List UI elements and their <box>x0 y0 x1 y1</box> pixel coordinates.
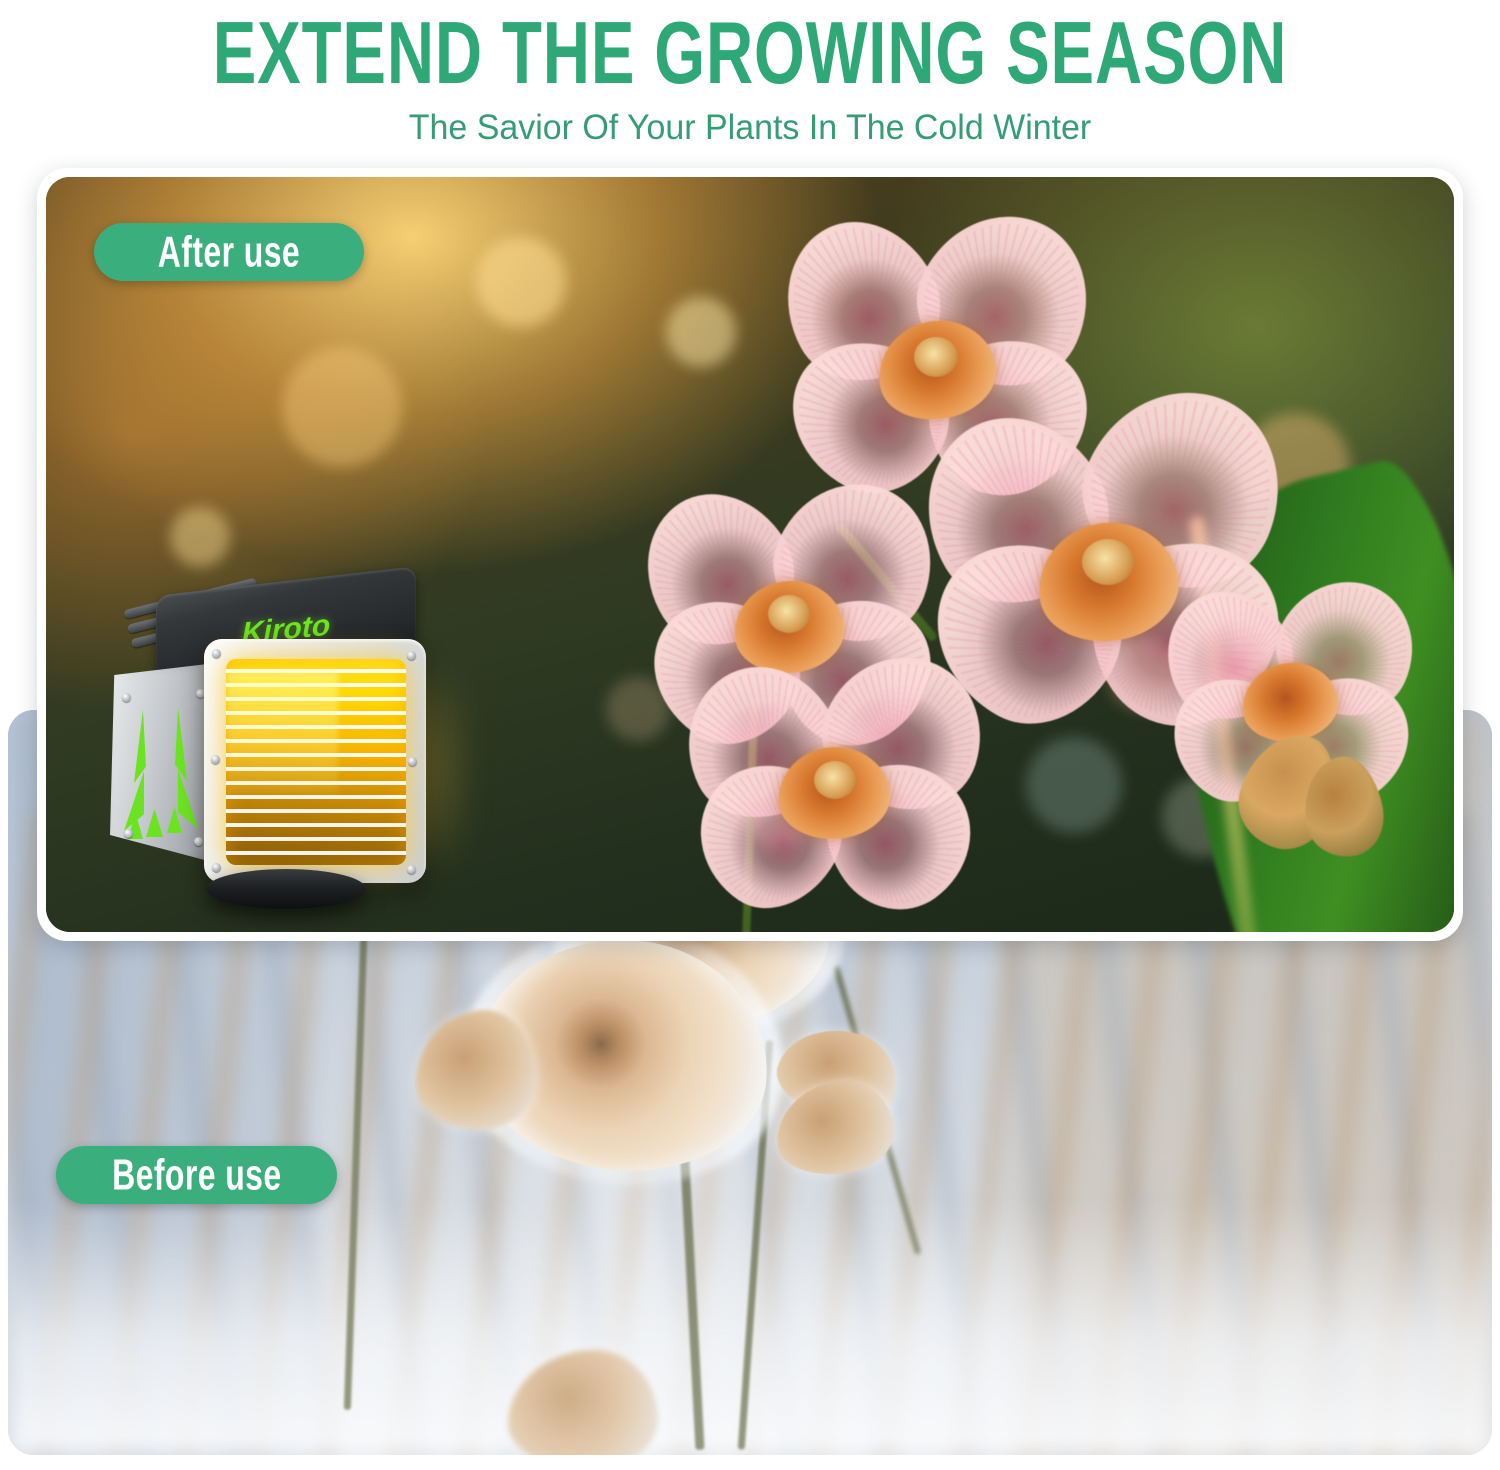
after-use-badge-label: After use <box>158 227 300 277</box>
bokeh-dot <box>170 507 230 567</box>
leaf-accent-icon <box>178 769 198 829</box>
panel-screw <box>408 757 417 766</box>
heating-element-grille <box>226 659 406 865</box>
orchid-flower <box>686 647 986 917</box>
orchid-column <box>768 595 810 633</box>
panel-screw <box>124 829 133 838</box>
after-use-badge: After use <box>94 223 364 281</box>
before-use-badge-label: Before use <box>112 1150 281 1200</box>
orchid-column <box>814 761 856 799</box>
heater-front-face <box>204 639 426 883</box>
bokeh-dot <box>282 347 402 467</box>
heater-base <box>206 869 366 909</box>
after-use-photo: After use Kiroto <box>37 168 1463 941</box>
panel-screw <box>407 865 416 874</box>
leaf-accent-icon <box>130 709 147 784</box>
page-subtitle: The Savior Of Your Plants In The Cold Wi… <box>23 106 1478 150</box>
leaf-accent-icon <box>174 707 191 782</box>
panel-screw <box>122 693 131 702</box>
panel-screw <box>212 649 221 658</box>
before-use-badge: Before use <box>56 1146 337 1204</box>
after-use-photo-inner: After use Kiroto <box>46 177 1454 932</box>
panel-screw <box>212 863 221 872</box>
leaf-accent-icon <box>146 809 163 837</box>
bokeh-dot <box>476 237 566 327</box>
header-block: EXTEND THE GROWING SEASON The Savior Of … <box>0 0 1500 150</box>
panel-screw <box>211 755 220 764</box>
bokeh-dot <box>666 297 736 367</box>
orchid-column <box>1082 539 1134 585</box>
panel-screw <box>194 837 203 846</box>
heater-body <box>110 639 430 877</box>
bokeh-dot <box>1026 737 1122 833</box>
product-heater: Kiroto <box>102 573 472 923</box>
panel-screw <box>407 651 416 660</box>
heater-side-panel <box>110 663 216 863</box>
orchid-column <box>914 337 958 377</box>
page-title: EXTEND THE GROWING SEASON <box>105 4 1395 104</box>
comparison-stage: Before use <box>0 152 1500 1470</box>
